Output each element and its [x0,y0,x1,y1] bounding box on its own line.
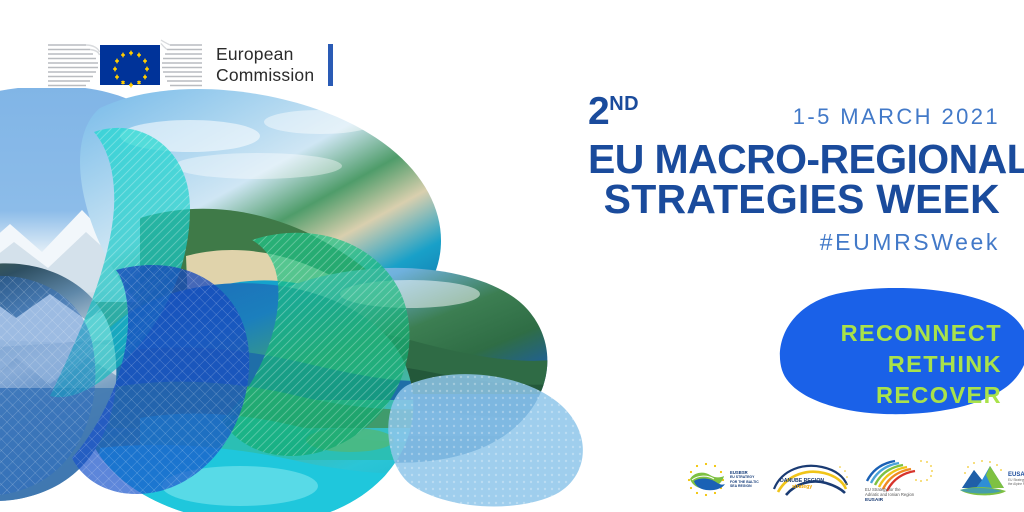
ordinal-and-date-row: 2ND 1-5 MARCH 2021 [588,96,1000,140]
partner-logo-danube[interactable]: DANUBE REGION strategy [770,457,850,501]
slogan-line-1: RECONNECT [841,318,1002,349]
ordinal-suffix: ND [609,93,639,115]
event-date: 1-5 MARCH 2021 [793,104,1000,130]
eusbsr-wordmark: EUSBSR EU STRATEGY FOR THE BALTIC SEA RE… [730,470,759,488]
partner-logo-eusbsr[interactable]: EUSBSR EU STRATEGY FOR THE BALTIC SEA RE… [682,457,759,501]
collage-sky-accent [388,374,583,506]
event-hashtag: #EUMRSWeek [588,229,1000,256]
photo-collage [0,88,630,512]
ec-wing-right-icon [160,39,204,91]
event-title-block: 2ND 1-5 MARCH 2021 EU MACRO-REGIONAL STR… [588,96,1000,256]
ec-logo-divider [328,44,333,86]
partner-logo-row: EUSBSR EU STRATEGY FOR THE BALTIC SEA RE… [682,454,1024,504]
eusair-name-line2: Adriatic and Ionian Region [865,492,915,497]
page-title: EU MACRO-REGIONAL STRATEGIES WEEK [588,140,1000,220]
ec-wordmark-line2: Commission [216,65,314,86]
eusalp-name-line2: the Alpine Region [1008,482,1024,486]
collage-artwork [0,88,630,512]
danube-name-line2: strategy [792,484,812,490]
partner-logo-eusalp[interactable]: EUSALP EU Strategy for the Alpine Region [956,457,1024,501]
ec-wing-left-icon [46,39,100,91]
ec-wordmark-line1: European [216,44,314,65]
campaign-banner: European Commission [0,0,1024,512]
danube-mark-icon: DANUBE REGION strategy [770,459,850,499]
eusair-mark-icon: EU Strategy for the Adriatic and Ionian … [861,457,945,501]
eusbsr-name-line3: SEA REGION [730,484,759,488]
eusair-acronym: EUSAIR [865,497,884,501]
partner-logo-bar: EUSBSR EU STRATEGY FOR THE BALTIC SEA RE… [664,424,1024,512]
ordinal-number: 2 [588,90,609,133]
eu-flag-icon [100,45,160,85]
eusalp-mark-icon: EUSALP EU Strategy for the Alpine Region [956,458,1024,500]
slogan-callout: RECONNECT RETHINK RECOVER [778,288,1024,418]
edition-ordinal: 2ND [588,92,639,131]
eusbsr-mark-icon [682,459,730,499]
slogan-text: RECONNECT RETHINK RECOVER [841,318,1002,411]
european-commission-wordmark: European Commission [216,44,314,87]
eusbsr-name-line1: EU STRATEGY [730,475,759,479]
european-commission-logo: European Commission [46,36,333,94]
slogan-line-3: RECOVER [841,380,1002,411]
slogan-line-2: RETHINK [841,349,1002,380]
title-line-1: EU MACRO-REGIONAL [588,140,1000,180]
partner-logo-eusair[interactable]: EU Strategy for the Adriatic and Ionian … [861,457,945,501]
title-line-2: STRATEGIES WEEK [588,180,1000,220]
